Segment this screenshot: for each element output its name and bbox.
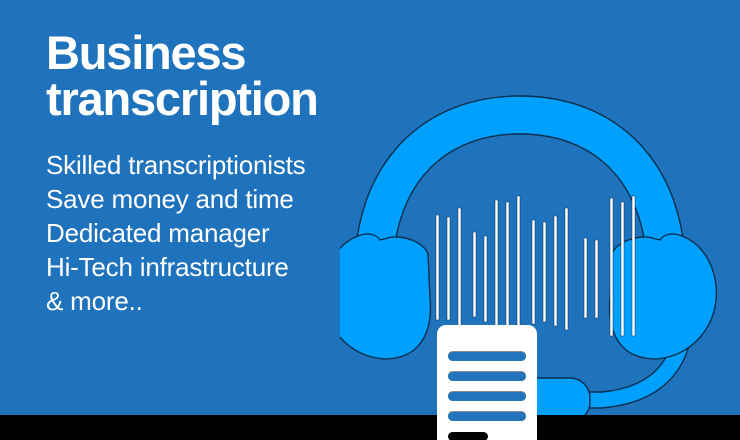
list-item: Dedicated manager — [46, 216, 406, 250]
list-item: & more.. — [46, 284, 406, 318]
document-text-line — [448, 412, 526, 421]
document-text-line — [448, 392, 526, 401]
transcript-document-icon — [437, 325, 537, 440]
list-item: Hi-Tech infrastructure — [46, 250, 406, 284]
copy-block: Business transcription Skilled transcrip… — [46, 30, 406, 318]
promo-banner: Business transcription Skilled transcrip… — [0, 0, 740, 440]
footer-bar — [0, 415, 740, 440]
document-text-line — [448, 432, 488, 440]
feature-list: Skilled transcriptionists Save money and… — [46, 148, 406, 318]
audio-waveform-icon — [436, 196, 635, 336]
list-item: Skilled transcriptionists — [46, 148, 406, 182]
document-text-line — [448, 372, 526, 381]
page-title: Business transcription — [46, 30, 406, 122]
right-earcup-icon — [610, 234, 717, 359]
list-item: Save money and time — [46, 182, 406, 216]
document-text-line — [448, 352, 526, 361]
